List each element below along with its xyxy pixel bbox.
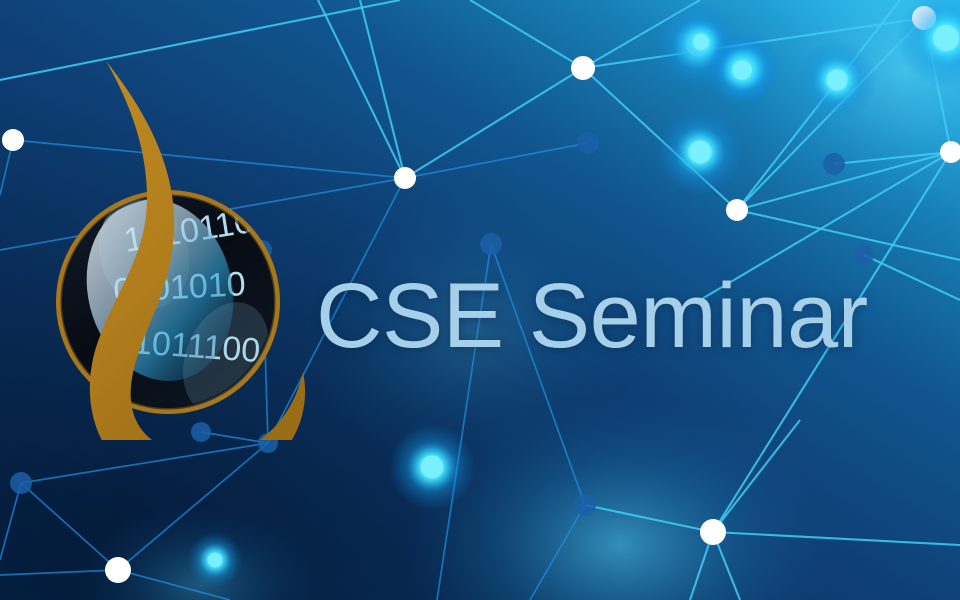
network-node [421,456,444,479]
page-title: CSE Seminar [316,268,868,365]
cse-seminar-banner: 11101 101 10 010 010. 01010 1010110 0101… [0,0,960,600]
network-node [577,132,599,154]
network-node [700,519,726,545]
network-edge [360,0,405,178]
network-edge [713,420,800,532]
network-node [732,60,752,80]
network-node [480,233,502,255]
network-node [2,129,24,151]
logo: 11101 101 10 010 010. 01010 1010110 0101… [40,40,340,440]
network-edge [470,0,583,68]
network-node [933,25,959,51]
network-node [574,494,596,516]
network-node [10,472,32,494]
network-edge [737,210,960,260]
network-edge [21,443,268,483]
network-edge [0,570,118,575]
network-node [854,245,874,265]
network-edge [585,505,713,532]
network-node [394,167,416,189]
network-node [940,141,960,163]
network-edge [21,483,118,570]
network-node [693,34,709,50]
network-node [823,153,845,175]
network-node [105,557,131,583]
network-node [571,56,595,80]
network-node [826,69,847,90]
network-edge [864,255,960,300]
network-edge [530,505,585,600]
network-edge [713,532,960,545]
network-edge [0,483,21,560]
network-node [726,199,748,221]
network-node [208,553,223,568]
network-node [689,141,712,164]
